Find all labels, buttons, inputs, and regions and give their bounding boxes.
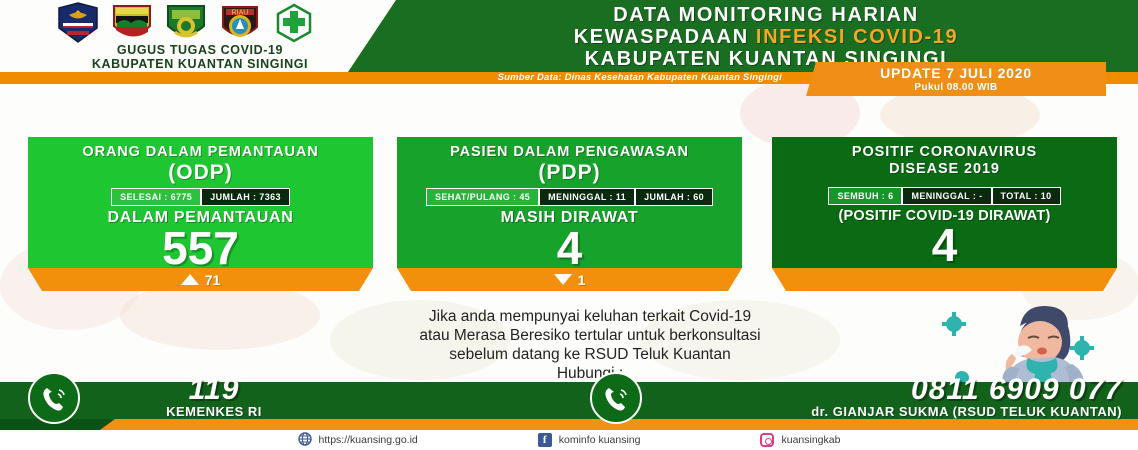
advice-line-3: sebelum datang ke RSUD Teluk Kuantan — [310, 345, 870, 364]
card-odp-badges: SELESAI : 6775 JUMLAH : 7363 — [36, 188, 365, 206]
poster-header: RIAU GUGUS TUGAS COVID-19 KABUPATEN KUAN… — [0, 0, 1138, 72]
card-positif-body: POSITIF CORONAVIRUS DISEASE 2019 SEMBUH … — [772, 137, 1117, 268]
card-odp-badge-selesai: SELESAI : 6775 — [111, 188, 201, 206]
page-title-line-1: DATA MONITORING HARIAN — [416, 4, 1116, 26]
hotline-orange-band — [0, 419, 1138, 430]
phone-icon-kemenkes — [28, 372, 80, 424]
hotline-rsud-number[interactable]: 0811 6909 077 — [652, 374, 1122, 406]
card-pdp-body: PASIEN DALAM PENGAWASAN (PDP) SEHAT/PULA… — [397, 137, 742, 268]
page-title-line-2-accent: INFEKSI COVID-19 — [756, 26, 958, 48]
card-positif-title-2: DISEASE 2019 — [780, 161, 1109, 178]
update-date: UPDATE 7 JULI 2020 — [806, 65, 1106, 81]
card-positif-badge-total: TOTAL : 10 — [992, 187, 1061, 205]
card-odp-delta-value: 71 — [205, 272, 221, 288]
card-pdp-value: 4 — [405, 225, 734, 271]
covid-daily-monitoring-poster: RIAU GUGUS TUGAS COVID-19 KABUPATEN KUAN… — [0, 0, 1138, 450]
advice-text: Jika anda mempunyai keluhan terkait Covi… — [310, 307, 870, 383]
card-odp: ORANG DALAM PEMANTAUAN (ODP) SELESAI : 6… — [28, 137, 373, 291]
update-badge: UPDATE 7 JULI 2020 Pukul 08.00 WIB — [806, 62, 1106, 96]
card-odp-abbr: (ODP) — [36, 161, 365, 185]
card-pdp-badges: SEHAT/PULANG : 45 MENINGGAL : 11 JUMLAH … — [405, 188, 734, 206]
card-positif-badge-sembuh: SEMBUH : 6 — [828, 187, 902, 205]
card-odp-title: ORANG DALAM PEMANTAUAN — [36, 144, 365, 161]
footer-item-website[interactable]: https://kuansing.go.id — [298, 432, 418, 449]
hotline-kemenkes-number[interactable]: 119 — [94, 374, 334, 406]
green-shield-logo — [163, 2, 209, 46]
card-pdp: PASIEN DALAM PENGAWASAN (PDP) SEHAT/PULA… — [397, 137, 742, 291]
social-footer: https://kuansing.go.id f kominfo kuansin… — [0, 430, 1138, 450]
facebook-icon: f — [538, 433, 552, 447]
card-pdp-abbr: (PDP) — [405, 161, 734, 185]
card-pdp-delta-value: 1 — [578, 272, 586, 288]
card-odp-body: ORANG DALAM PEMANTAUAN (ODP) SELESAI : 6… — [28, 137, 373, 268]
footer-instagram-label: kuansingkab — [781, 434, 840, 446]
footer-facebook-label: kominfo kuansing — [559, 434, 641, 446]
hotline-kemenkes-caption: KEMENKES RI — [94, 404, 334, 419]
card-odp-delta: 71 — [28, 268, 373, 291]
globe-icon — [298, 432, 312, 449]
card-pdp-delta: 1 — [397, 268, 742, 291]
phone-icon-rsud — [590, 372, 642, 424]
footer-website-label: https://kuansing.go.id — [319, 434, 418, 446]
institution-logos: RIAU — [55, 2, 317, 46]
footer-item-instagram[interactable]: kuansingkab — [760, 433, 840, 447]
footer-item-facebook[interactable]: f kominfo kuansing — [538, 433, 641, 447]
kuantan-singingi-regency-logo — [109, 2, 155, 46]
card-positif-title: POSITIF CORONAVIRUS — [780, 144, 1109, 161]
garuda-pancasila-logo — [55, 2, 101, 46]
page-title-line-2: KEWASPADAAN INFEKSI COVID-19 — [416, 26, 1116, 48]
task-force-caption: GUGUS TUGAS COVID-19 KABUPATEN KUANTAN S… — [40, 44, 360, 71]
source-text: Sumber Data: Dinas Kesehatan Kabupaten K… — [0, 72, 800, 84]
advice-line-1: Jika anda mempunyai keluhan terkait Covi… — [310, 307, 870, 326]
card-pdp-badge-meninggal: MENINGGAL : 11 — [539, 188, 635, 206]
hotline-rsud-caption: dr. GIANJAR SUKMA (RSUD TELUK KUANTAN) — [652, 404, 1122, 419]
hotline-kemenkes: 119 KEMENKES RI — [94, 374, 334, 419]
card-positif: POSITIF CORONAVIRUS DISEASE 2019 SEMBUH … — [772, 137, 1117, 291]
card-odp-value: 557 — [36, 225, 365, 271]
card-pdp-badge-jumlah: JUMLAH : 60 — [635, 188, 713, 206]
card-positif-badges: SEMBUH : 6 MENINGGAL : - TOTAL : 10 — [780, 187, 1109, 205]
instagram-icon — [760, 433, 774, 447]
riau-police-logo: RIAU — [217, 2, 263, 46]
card-positif-value: 4 — [780, 222, 1109, 268]
health-cross-logo — [271, 2, 317, 46]
statistics-cards: ORANG DALAM PEMANTAUAN (ODP) SELESAI : 6… — [0, 137, 1138, 292]
page-title-line-2a: KEWASPADAAN — [574, 26, 756, 48]
card-positif-delta — [772, 268, 1117, 291]
triangle-down-icon — [554, 274, 572, 285]
header-title-group: DATA MONITORING HARIAN KEWASPADAAN INFEK… — [416, 4, 1116, 70]
task-force-line-1: GUGUS TUGAS COVID-19 — [40, 44, 360, 58]
card-positif-badge-meninggal: MENINGGAL : - — [902, 187, 991, 205]
card-pdp-title: PASIEN DALAM PENGAWASAN — [405, 144, 734, 161]
task-force-line-2: KABUPATEN KUANTAN SINGINGI — [40, 58, 360, 72]
hotline-rsud: 0811 6909 077 dr. GIANJAR SUKMA (RSUD TE… — [652, 374, 1122, 419]
card-odp-badge-jumlah: JUMLAH : 7363 — [201, 188, 290, 206]
update-time: Pukul 08.00 WIB — [806, 82, 1106, 93]
card-pdp-badge-sehat: SEHAT/PULANG : 45 — [426, 188, 539, 206]
triangle-up-icon — [181, 274, 199, 285]
advice-line-2: atau Merasa Beresiko tertular untuk berk… — [310, 326, 870, 345]
